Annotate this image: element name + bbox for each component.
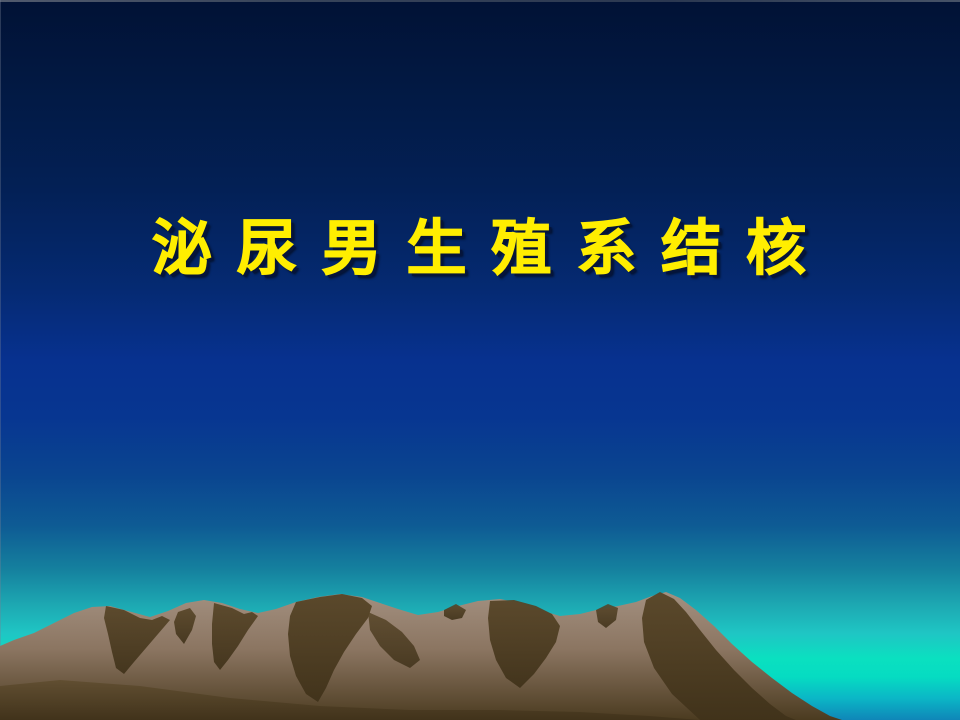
slide-top-border	[0, 0, 960, 2]
presentation-slide: 泌 尿 男 生 殖 系 结 核	[0, 0, 960, 720]
mountain-range-graphic	[0, 590, 960, 720]
title-container: 泌 尿 男 生 殖 系 结 核	[0, 213, 960, 285]
slide-title: 泌 尿 男 生 殖 系 结 核	[152, 213, 808, 285]
